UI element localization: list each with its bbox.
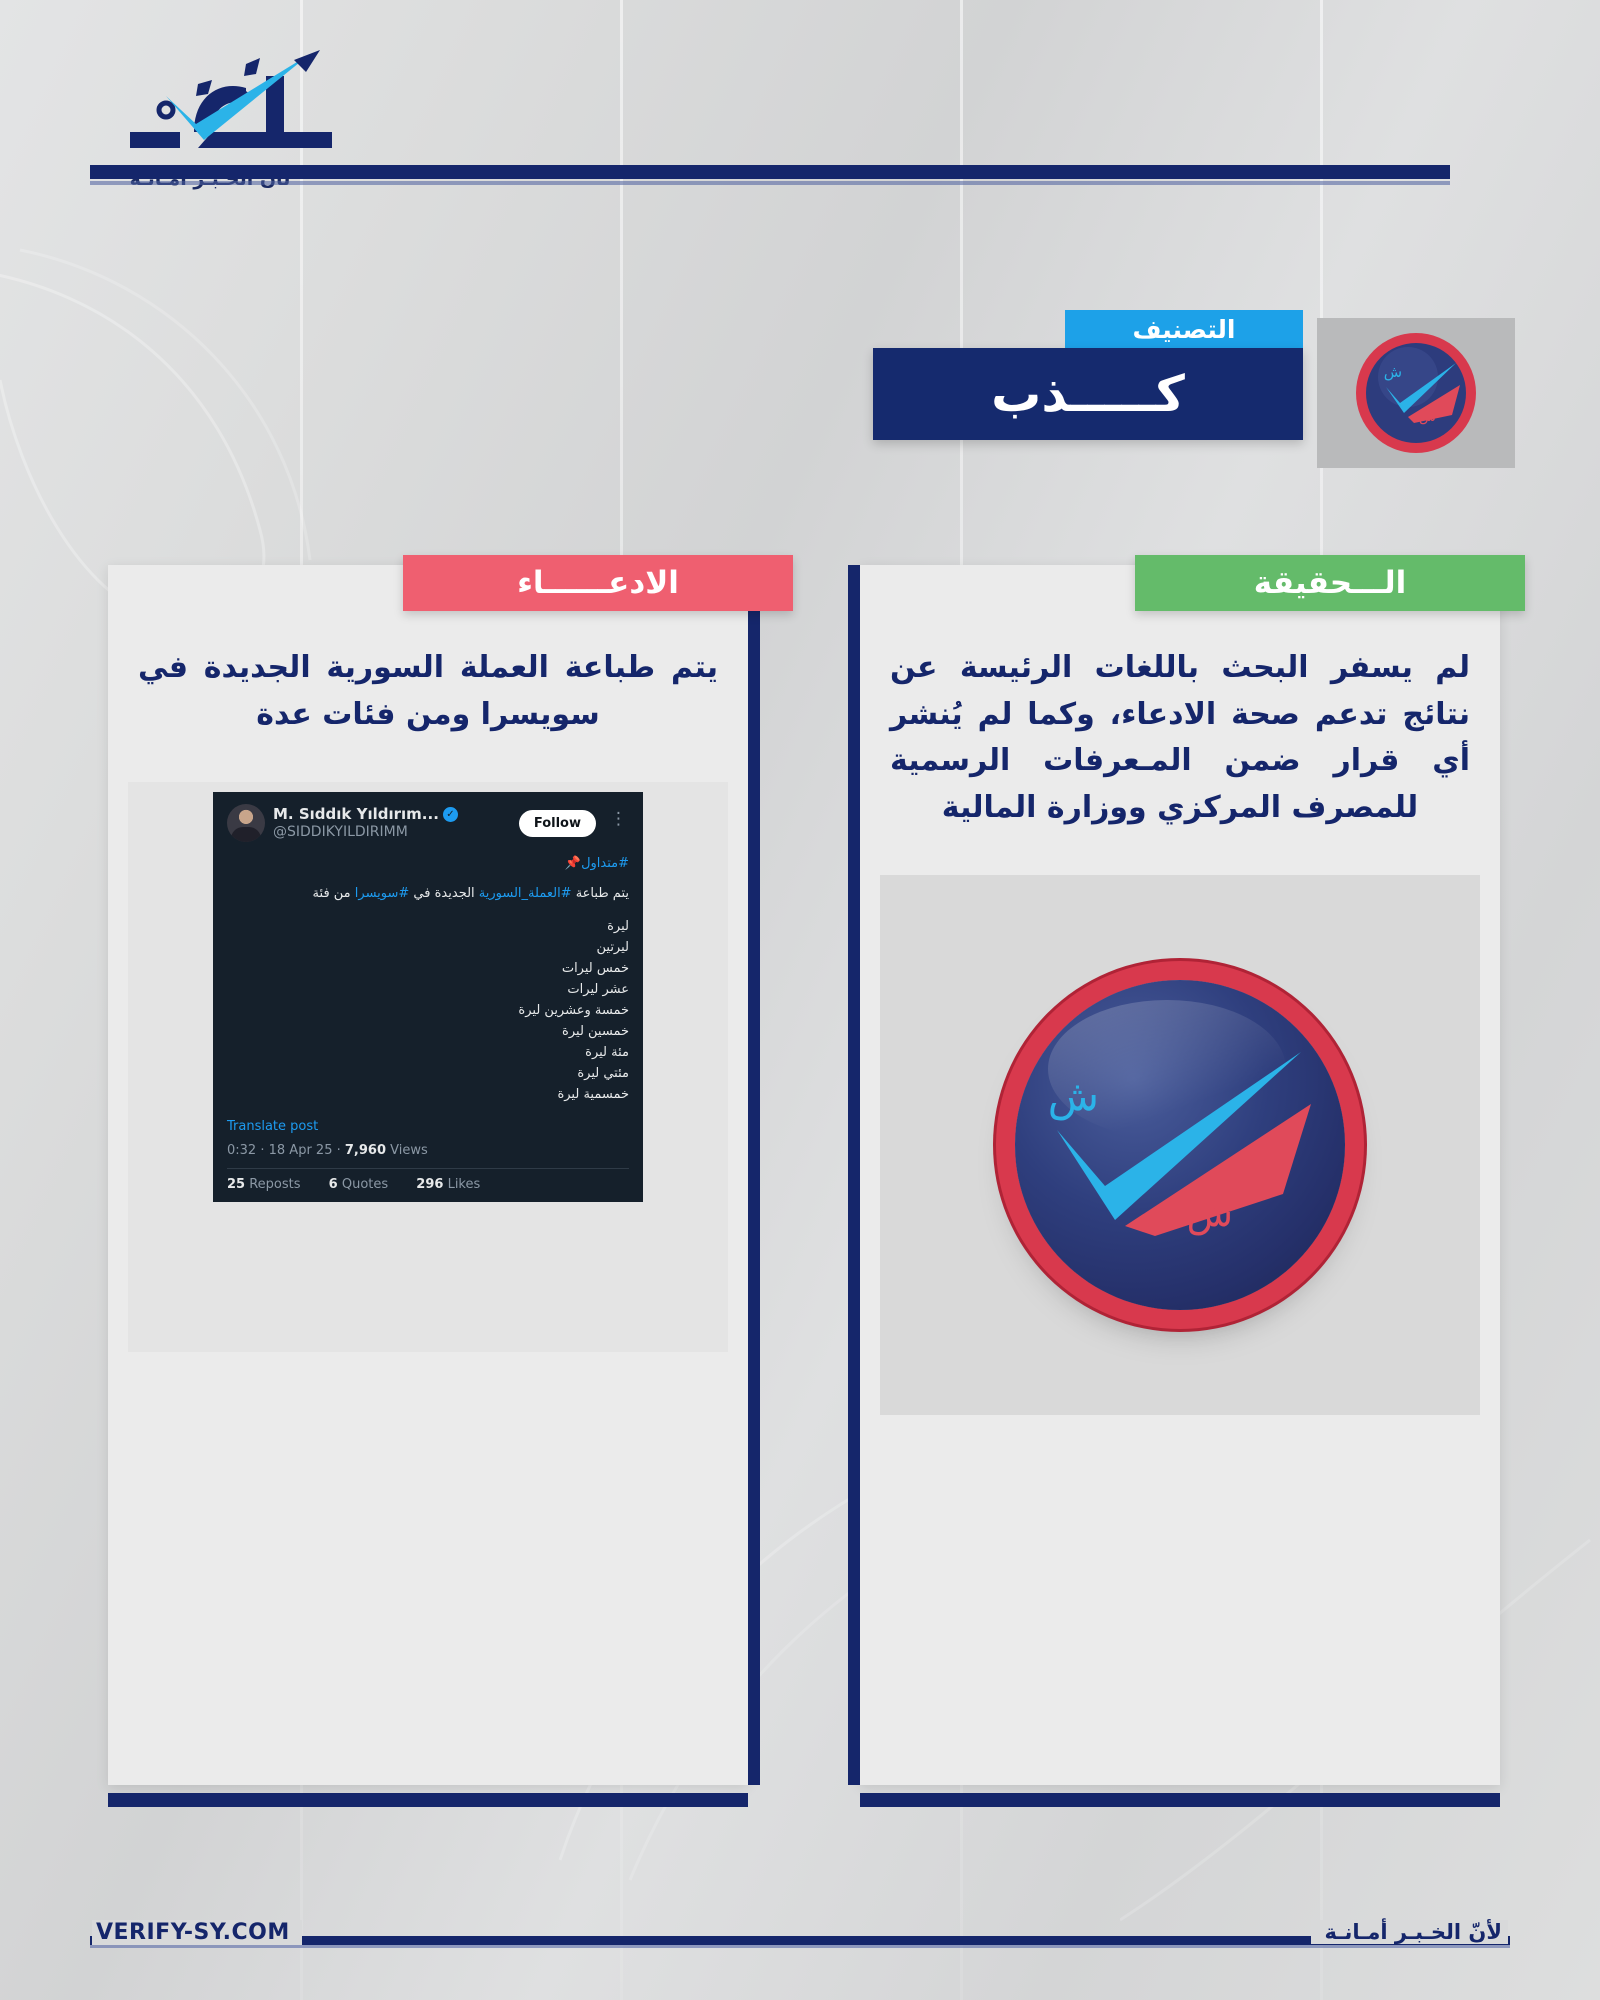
- tweet-identity: M. Sıddık Yıldırım... ✓ @SIDDIKYILDIRIMM: [273, 806, 511, 840]
- more-options-icon[interactable]: ⋮: [604, 814, 629, 832]
- quotes-label: Quotes: [342, 1177, 388, 1192]
- verify-sy-coin-logo-large-icon: ش ش: [1015, 980, 1345, 1310]
- claim-card: الادعــــــاء يتم طباعة العملة السورية ا…: [108, 565, 748, 1785]
- truth-column: الـــحقيقة لم يسفر البحث باللغات الرئيسة…: [860, 565, 1500, 1785]
- header-divider-accent: [90, 181, 1450, 185]
- claim-column: الادعــــــاء يتم طباعة العملة السورية ا…: [108, 565, 748, 1785]
- tweet-body-suffix: من فئة: [313, 886, 355, 901]
- classification-verdict: كـــــذب: [873, 348, 1303, 440]
- list-item: ليرتين: [227, 937, 629, 958]
- reposts-count: 25: [227, 1177, 245, 1192]
- tweet-date: 18 Apr 25: [269, 1143, 333, 1158]
- claim-heading: الادعــــــاء: [403, 555, 793, 611]
- truth-side-rail: [848, 565, 860, 1785]
- tweet-hashtag-switzerland[interactable]: #سويسرا: [355, 886, 410, 901]
- translate-post-link[interactable]: Translate post: [227, 1119, 629, 1134]
- tweet-handle[interactable]: @SIDDIKYILDIRIMM: [273, 824, 511, 841]
- avatar[interactable]: [227, 804, 265, 842]
- svg-text:ش: ش: [1384, 363, 1402, 381]
- truth-baseline: [860, 1793, 1500, 1807]
- quotes-stat[interactable]: 6 Quotes: [329, 1177, 400, 1192]
- tweet-pin-hashtag-text[interactable]: #متداول: [581, 856, 629, 871]
- list-item: خمسة وعشرين ليرة: [227, 1000, 629, 1021]
- tweet-engagement-stats: 25 Reposts 6 Quotes 296 Likes: [227, 1177, 629, 1192]
- footer-divider-accent: [90, 1945, 1510, 1948]
- classification-label: التصنيف: [1065, 310, 1303, 348]
- tweet-views-count: 7,960: [345, 1143, 386, 1158]
- footer-divider: [90, 1936, 1510, 1945]
- likes-label: Likes: [448, 1177, 481, 1192]
- list-item: عشر ليرات: [227, 979, 629, 1000]
- meta-separator: ·: [337, 1143, 341, 1158]
- likes-stat[interactable]: 296 Likes: [416, 1177, 492, 1192]
- svg-text:ش: ش: [1419, 409, 1436, 425]
- page-header: لأنّ الخـبـر أمـانـة: [0, 0, 1600, 230]
- follow-button[interactable]: Follow: [519, 810, 596, 837]
- classification-badge: ش ش: [1317, 318, 1515, 468]
- verified-badge-icon: ✓: [443, 807, 458, 822]
- denomination-list: ليرة ليرتين خمس ليرات عشر ليرات خمسة وعش…: [227, 916, 629, 1105]
- pin-icon: 📌: [565, 856, 581, 871]
- svg-text:ش: ش: [1048, 1071, 1099, 1120]
- list-item: ليرة: [227, 916, 629, 937]
- page-footer: VERIFY-SY.COM لأنّ الخـبـر أمـانـة: [0, 1880, 1600, 2000]
- svg-text:ش: ش: [1187, 1191, 1233, 1235]
- list-item: خمسين ليرة: [227, 1021, 629, 1042]
- truth-heading: الـــحقيقة: [1135, 555, 1525, 611]
- tweet-body-prefix: يتم طباعة: [572, 886, 629, 901]
- tweet-main-sentence: يتم طباعة #العملة_السورية الجديدة في #سو…: [227, 884, 629, 904]
- claim-baseline: [108, 1793, 748, 1807]
- tweet-hashtag-currency[interactable]: #العملة_السورية: [479, 886, 572, 901]
- tweet-pinned-hashtag: #متداول📌: [227, 854, 629, 874]
- verify-sy-coin-logo-icon: ش ش: [1352, 329, 1480, 457]
- meta-separator: ·: [260, 1143, 264, 1158]
- likes-count: 296: [416, 1177, 443, 1192]
- reposts-label: Reposts: [249, 1177, 300, 1192]
- reposts-stat[interactable]: 25 Reposts: [227, 1177, 313, 1192]
- truth-evidence-area: ش ش: [880, 875, 1480, 1415]
- tweet-card[interactable]: M. Sıddık Yıldırım... ✓ @SIDDIKYILDIRIMM…: [213, 792, 643, 1202]
- tweet-header: M. Sıddık Yıldırım... ✓ @SIDDIKYILDIRIMM…: [227, 804, 629, 842]
- quotes-count: 6: [329, 1177, 338, 1192]
- tweet-display-name-text: M. Sıddık Yıldırım...: [273, 806, 439, 824]
- truth-card: الـــحقيقة لم يسفر البحث باللغات الرئيسة…: [860, 565, 1500, 1785]
- tweet-body-middle: الجديدة في: [409, 886, 479, 901]
- list-item: خمس ليرات: [227, 958, 629, 979]
- tweet-views-label: Views: [390, 1143, 428, 1158]
- claim-side-rail: [748, 565, 760, 1785]
- tweet-time: 0:32: [227, 1143, 256, 1158]
- list-item: مئة ليرة: [227, 1042, 629, 1063]
- tweet-body: #متداول📌 يتم طباعة #العملة_السورية الجدي…: [227, 854, 629, 1105]
- claim-evidence-area: M. Sıddık Yıldırım... ✓ @SIDDIKYILDIRIMM…: [128, 782, 728, 1352]
- header-divider: [90, 165, 1450, 179]
- footer-website-url[interactable]: VERIFY-SY.COM: [92, 1920, 302, 1945]
- list-item: خمسمية ليرة: [227, 1084, 629, 1105]
- verify-check-logo-icon: [70, 36, 350, 166]
- tweet-timestamp-views: 0:32 · 18 Apr 25 · 7,960 Views: [227, 1143, 629, 1158]
- list-item: مئتي ليرة: [227, 1063, 629, 1084]
- tweet-divider: [227, 1168, 629, 1169]
- footer-tagline: لأنّ الخـبـر أمـانـة: [1311, 1920, 1508, 1944]
- tweet-display-name: M. Sıddık Yıldırım... ✓: [273, 806, 511, 824]
